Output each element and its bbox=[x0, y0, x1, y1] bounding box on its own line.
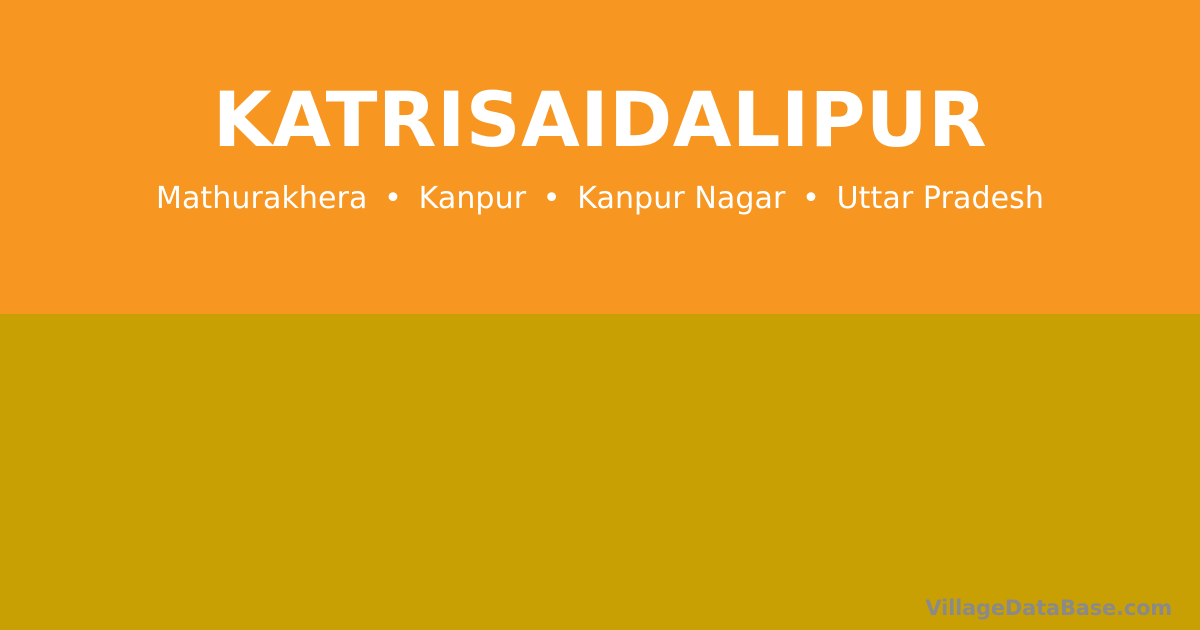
breadcrumb-item-village: Mathurakhera bbox=[156, 181, 368, 216]
header-band: KATRISAIDALIPUR Mathurakhera • Kanpur • … bbox=[0, 0, 1200, 314]
breadcrumb-separator-icon: • bbox=[536, 180, 568, 218]
page-title: KATRISAIDALIPUR bbox=[0, 80, 1200, 160]
breadcrumb-item-state: Uttar Pradesh bbox=[837, 181, 1044, 216]
breadcrumb-item-district: Kanpur Nagar bbox=[577, 181, 785, 216]
breadcrumb: Mathurakhera • Kanpur • Kanpur Nagar • U… bbox=[0, 180, 1200, 218]
body-band: Town: Kanpur (35 km) VillageDataBase.com bbox=[0, 314, 1200, 630]
breadcrumb-item-tehsil: Kanpur bbox=[419, 181, 527, 216]
breadcrumb-separator-icon: • bbox=[377, 180, 409, 218]
village-info-card: KATRISAIDALIPUR Mathurakhera • Kanpur • … bbox=[0, 0, 1200, 630]
site-watermark: VillageDataBase.com bbox=[925, 595, 1172, 621]
breadcrumb-separator-icon: • bbox=[795, 180, 827, 218]
